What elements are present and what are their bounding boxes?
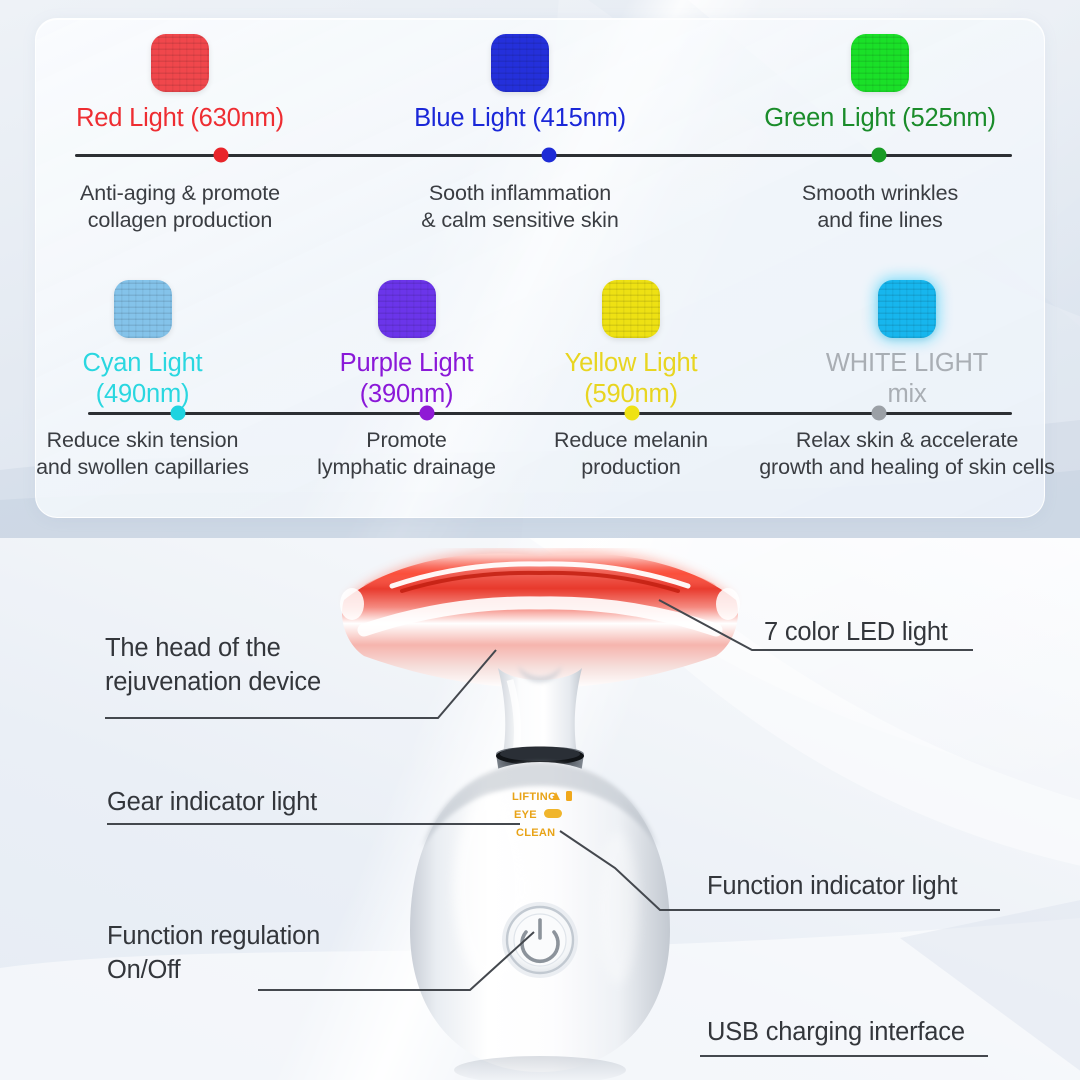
light-title-white-line2: mix	[887, 379, 926, 410]
callout-power-label: Function regulation On/Off	[107, 920, 437, 987]
axis-dot-purple	[420, 406, 435, 421]
axis-dot-cyan	[171, 406, 186, 421]
light-desc-cyan: Reduce skin tension and swollen capillar…	[36, 427, 249, 480]
callout-function-indicator-label: Function indicator light	[707, 870, 957, 904]
light-modes-section: Red Light (630nm) Anti-aging & promote c…	[0, 0, 1080, 538]
light-item-cyan[interactable]: Cyan Light (490nm) Reduce skin tension a…	[0, 280, 285, 495]
light-row-2: Cyan Light (490nm) Reduce skin tension a…	[0, 280, 1080, 495]
light-title-blue: Blue Light (415nm)	[414, 104, 626, 133]
light-desc-yellow: Reduce melanin production	[554, 427, 708, 480]
led-swatch-green-icon	[851, 34, 909, 92]
light-item-green[interactable]: Green Light (525nm) Smooth wrinkles and …	[680, 34, 1080, 244]
light-desc-green: Smooth wrinkles and fine lines	[802, 180, 958, 233]
led-swatch-yellow-icon	[602, 280, 660, 338]
light-desc-blue: Sooth inflammation & calm sensitive skin	[421, 180, 618, 233]
axis-dot-yellow	[625, 406, 640, 421]
led-swatch-red-icon	[151, 34, 209, 92]
light-item-white[interactable]: WHITE LIGHT mix Relax skin & accelerate …	[734, 280, 1080, 495]
axis-dot-red	[214, 148, 229, 163]
light-desc-purple: Promote lymphatic drainage	[317, 427, 496, 480]
led-swatch-white-mix-icon	[878, 280, 936, 338]
callout-gear-label: Gear indicator light	[107, 786, 317, 820]
light-item-purple[interactable]: Purple Light (390nm) Promote lymphatic d…	[285, 280, 528, 495]
callout-usb-label: USB charging interface	[707, 1016, 965, 1050]
light-title-yellow-line1: Yellow Light	[565, 348, 698, 379]
light-item-yellow[interactable]: Yellow Light (590nm) Reduce melanin prod…	[528, 280, 734, 495]
light-desc-red: Anti-aging & promote collagen production	[80, 180, 280, 233]
light-title-purple-line1: Purple Light	[340, 348, 474, 379]
light-title-cyan-line1: Cyan Light	[83, 348, 203, 379]
led-swatch-cyan-icon	[114, 280, 172, 338]
infographic-canvas: Red Light (630nm) Anti-aging & promote c…	[0, 0, 1080, 1080]
light-title-red: Red Light (630nm)	[76, 104, 284, 133]
axis-dot-green	[872, 148, 887, 163]
light-desc-white: Relax skin & accelerate growth and heali…	[759, 427, 1055, 480]
led-swatch-blue-icon	[491, 34, 549, 92]
led-swatch-purple-icon	[378, 280, 436, 338]
light-row-1: Red Light (630nm) Anti-aging & promote c…	[0, 34, 1080, 244]
callout-led-label: 7 color LED light	[764, 616, 948, 650]
light-title-white-line1: WHITE LIGHT	[826, 348, 988, 379]
callout-head-label: The head of the rejuvenation device	[105, 632, 435, 699]
light-item-blue[interactable]: Blue Light (415nm) Sooth inflammation & …	[360, 34, 680, 244]
device-diagram-section: LIFTING EYE CLEAN	[0, 538, 1080, 1080]
axis-dot-white	[872, 406, 887, 421]
light-title-purple-line2: (390nm)	[360, 379, 454, 410]
axis-dot-blue	[542, 148, 557, 163]
light-title-green: Green Light (525nm)	[764, 104, 996, 133]
light-item-red[interactable]: Red Light (630nm) Anti-aging & promote c…	[0, 34, 360, 244]
